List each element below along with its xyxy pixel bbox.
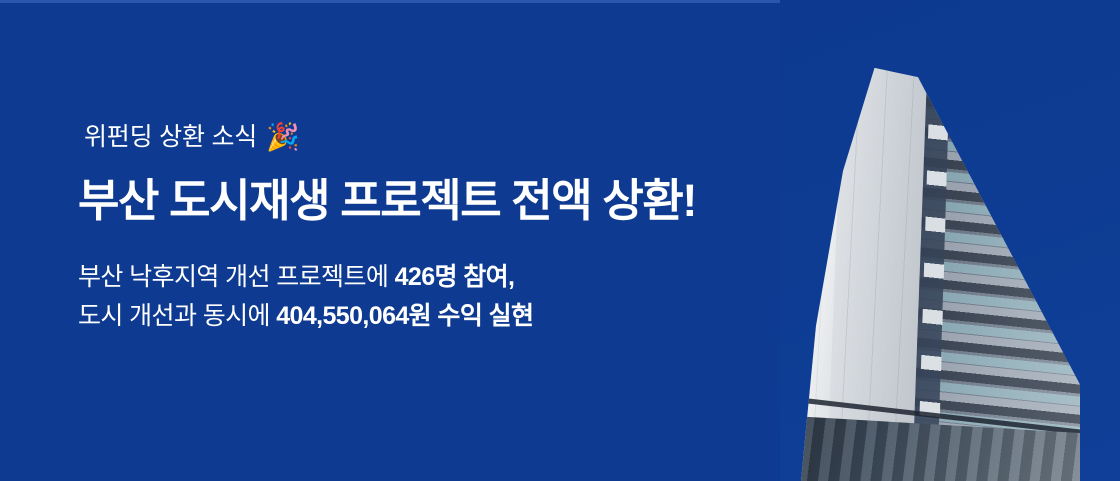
subcopy-line-1: 부산 낙후지역 개선 프로젝트에 426명 참여, <box>78 258 533 297</box>
party-popper-icon: 🎉 <box>266 124 299 151</box>
subcopy-line-2: 도시 개선과 동시에 404,550,064원 수익 실현 <box>78 297 533 336</box>
eyebrow-kicker: 위펀딩 상환 소식 🎉 <box>84 124 300 151</box>
subcopy: 부산 낙후지역 개선 프로젝트에 426명 참여, 도시 개선과 동시에 404… <box>78 258 533 336</box>
eyebrow-label: 위펀딩 상환 소식 <box>84 125 257 150</box>
promo-banner: 위펀딩 상환 소식 🎉 부산 도시재생 프로젝트 전액 상환! 부산 낙후지역 … <box>0 0 1120 481</box>
copy-block: 위펀딩 상환 소식 🎉 부산 도시재생 프로젝트 전액 상환! 부산 낙후지역 … <box>78 0 778 481</box>
building-photo <box>780 0 1120 481</box>
page-title: 부산 도시재생 프로젝트 전액 상환! <box>78 176 696 226</box>
subcopy-line-2-lead: 도시 개선과 동시에 <box>78 302 276 330</box>
participants-count: 426명 참여, <box>395 263 515 291</box>
profit-amount: 404,550,064원 수익 실현 <box>276 302 533 330</box>
subcopy-line-1-lead: 부산 낙후지역 개선 프로젝트에 <box>78 263 395 291</box>
